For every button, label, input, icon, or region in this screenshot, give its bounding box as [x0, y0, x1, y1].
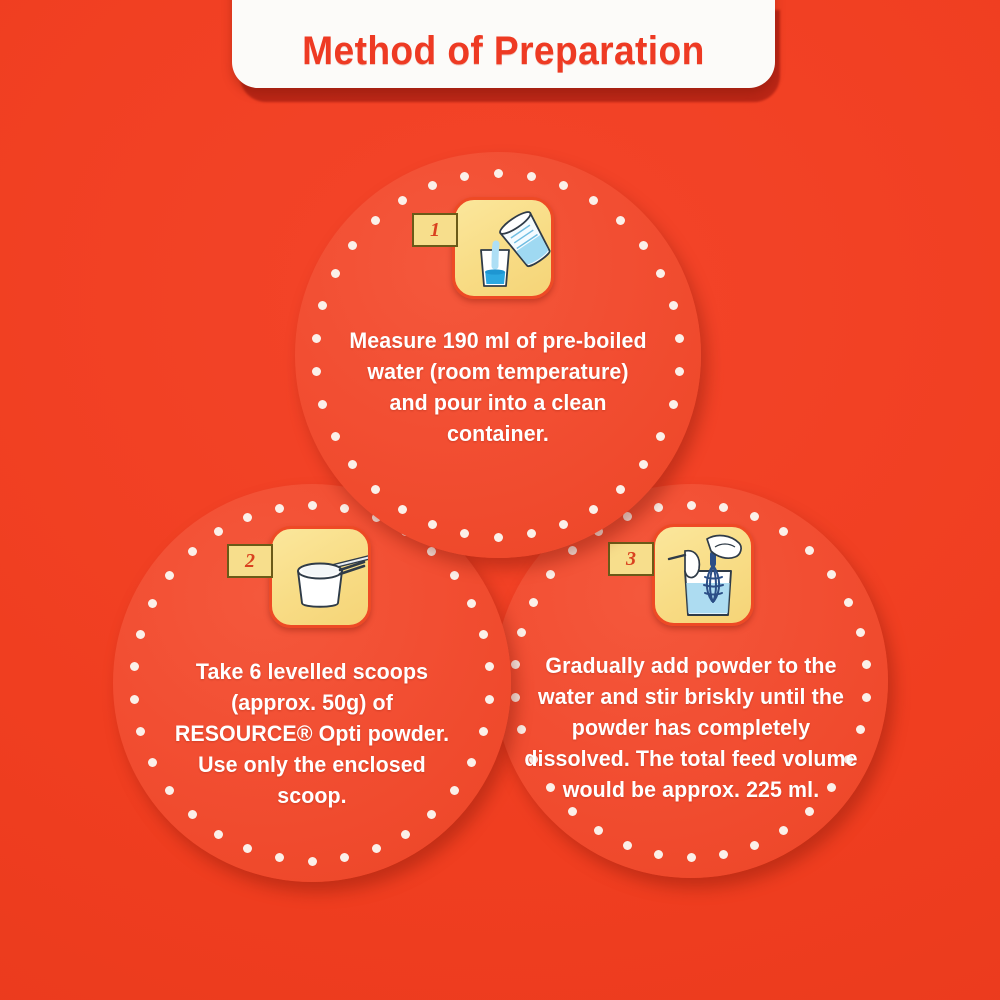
step-text-3: Gradually add powder to the water and st…: [520, 650, 862, 805]
step-number-badge-1: 1: [412, 213, 458, 247]
title-banner: Method of Preparation: [232, 0, 775, 88]
step-text-2: Take 6 levelled scoops (approx. 50g) of …: [170, 656, 455, 811]
step-text-1: Measure 190 ml of pre-boiled water (room…: [346, 325, 650, 449]
step-number-badge-2: 2: [227, 544, 273, 578]
pouring-water-jug-icon: [452, 197, 554, 299]
page-title: Method of Preparation: [302, 29, 705, 88]
step-circle-1: 1: [295, 152, 701, 558]
step-number-2: 2: [245, 551, 255, 571]
step-number-1: 1: [430, 220, 440, 240]
infographic-canvas: Method of Preparation 1: [0, 0, 1000, 1000]
step-icon-wrap-1: 1: [452, 197, 554, 299]
